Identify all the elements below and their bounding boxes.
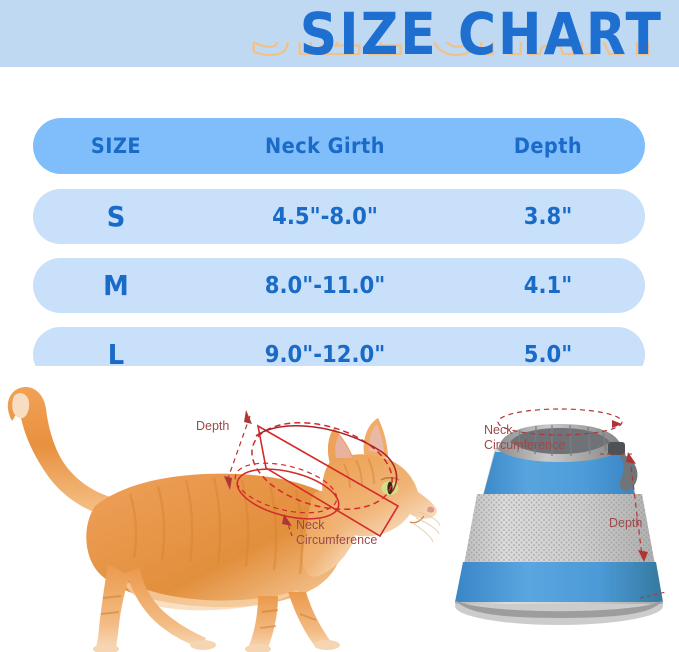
- column-header-depth: Depth: [459, 134, 637, 158]
- cat-front-leg-near: [288, 592, 334, 648]
- cat-hind-leg-far: [96, 564, 130, 648]
- cat-paw: [314, 640, 340, 650]
- cell-size-s: S: [40, 200, 193, 233]
- cat-neck-label-line1: Neck: [296, 518, 324, 532]
- page-title: SIZE CHART: [0, 6, 679, 64]
- cone-bottom-blue-band: [455, 562, 663, 602]
- cat-neck-circumference-label: Neck Circumference: [296, 518, 377, 549]
- depth-arrow-top: [244, 410, 252, 424]
- product-neck-label-line2: Circumference: [484, 438, 565, 452]
- drawstring-toggle: [608, 442, 625, 455]
- size-chart-page: SIZE CHART SIZE CHART SIZE Neck Girth De…: [0, 0, 679, 652]
- illustration-area: [0, 366, 679, 652]
- cell-neck-girth-s: 4.5"-8.0": [209, 204, 441, 230]
- cat-neck-label-line2: Circumference: [296, 533, 377, 547]
- cell-depth-s: 3.8": [459, 204, 637, 230]
- table-row: S 4.5"-8.0" 3.8": [33, 189, 645, 244]
- column-header-size: SIZE: [40, 134, 193, 158]
- product-cone-illustration: [440, 366, 679, 652]
- product-neck-circumference-label: Neck Circumference: [484, 423, 565, 454]
- cat-ear-inner-far: [335, 435, 352, 458]
- cell-depth-l: 5.0": [459, 342, 637, 368]
- cell-neck-girth-m: 8.0"-11.0": [209, 273, 441, 299]
- cell-neck-girth-l: 9.0"-12.0": [209, 342, 441, 368]
- table-row: M 8.0"-11.0" 4.1": [33, 258, 645, 313]
- cat-illustration: [0, 366, 440, 652]
- size-table: SIZE Neck Girth Depth S 4.5"-8.0" 3.8" M…: [33, 118, 645, 396]
- tail-tip: [12, 393, 29, 418]
- column-header-neck-girth: Neck Girth: [209, 134, 441, 158]
- product-neck-label-line1: Neck: [484, 423, 512, 437]
- cell-depth-m: 4.1": [459, 273, 637, 299]
- neck-circumference-arrow: [612, 420, 622, 428]
- cat-paw: [190, 640, 216, 650]
- cat-depth-label: Depth: [196, 419, 229, 434]
- cell-size-m: M: [40, 269, 193, 302]
- table-header-row: SIZE Neck Girth Depth: [33, 118, 645, 174]
- product-depth-label: Depth: [609, 516, 642, 531]
